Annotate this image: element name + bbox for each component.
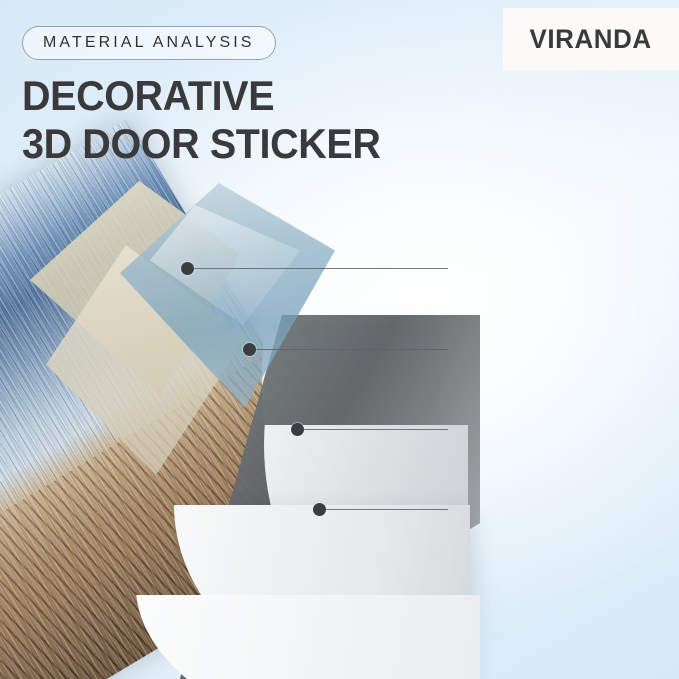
callout-leader-line-4 — [326, 509, 448, 510]
callout-dot-1 — [181, 262, 194, 275]
sticker-illustration — [0, 175, 470, 679]
callout-dot-2 — [243, 343, 256, 356]
callout-leader-line-2 — [256, 349, 448, 350]
callout-leader-line-3 — [304, 429, 448, 430]
brand-name: VIRANDA — [530, 24, 652, 55]
material-analysis-badge: MATERIAL ANALYSIS — [22, 26, 276, 60]
callout-dot-4 — [313, 503, 326, 516]
callout-leader-line-1 — [194, 268, 448, 269]
title-line-2: 3D DOOR STICKER — [22, 120, 464, 168]
infographic-canvas: MATERIAL ANALYSIS DECORATIVE 3D DOOR STI… — [0, 0, 679, 679]
callout-dot-3 — [291, 423, 304, 436]
badge-label: MATERIAL ANALYSIS — [43, 34, 255, 52]
brand-logo-box: VIRANDA — [503, 8, 679, 70]
page-title: DECORATIVE 3D DOOR STICKER — [22, 72, 464, 168]
title-line-1: DECORATIVE — [22, 72, 464, 120]
